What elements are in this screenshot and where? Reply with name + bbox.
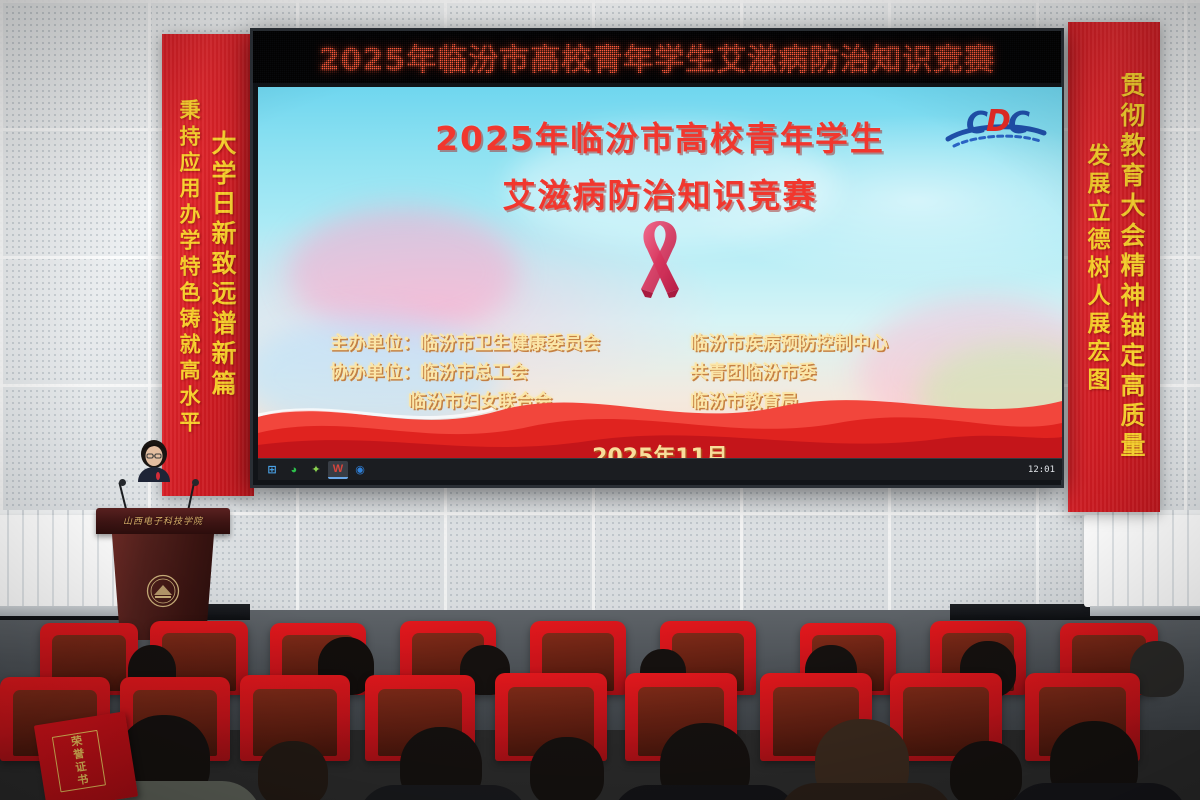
photos-icon[interactable]: ✦ — [306, 461, 326, 479]
slide-title-line2: 艾滋病防治知识竞赛 — [258, 169, 1062, 217]
speaker-at-podium: 山西电子科技学院 — [88, 430, 238, 640]
slide-title-line1: 2025年临汾市高校青年学生 — [258, 112, 1062, 160]
vertical-banner-left: 大学日新致远谱新篇 秉持应用办学特色铸就高水平 — [162, 34, 254, 496]
speaker-figure — [136, 440, 172, 482]
display-screen: 2025年临汾市高校青年学生艾滋病防治知识竞赛 C D C 2025年临汾市高校… — [250, 28, 1064, 488]
school-emblem-icon — [146, 574, 180, 608]
aids-awareness-ribbon-icon — [623, 215, 697, 306]
banner-left-main-text: 大学日新致远谱新篇 — [204, 48, 240, 482]
audience-shoulders — [1008, 783, 1188, 800]
audience-seating — [0, 615, 1200, 800]
audience-shoulders — [612, 785, 798, 800]
audience-shoulders — [778, 783, 954, 800]
media-player-icon[interactable]: ◉ — [350, 461, 370, 479]
presentation-slide: C D C 2025年临汾市高校青年学生 艾滋病防治知识竞赛 — [258, 87, 1062, 465]
audience-head — [530, 737, 604, 800]
audience-head — [258, 741, 328, 800]
led-banner: 2025年临汾市高校青年学生艾滋病防治知识竞赛 — [253, 31, 1061, 83]
podium-plaque-text: 山西电子科技学院 — [96, 514, 230, 527]
banner-right-sub-text: 发展立德树人展宏图 — [1079, 36, 1113, 498]
banner-right-main-text: 贯彻教育大会精神锚定高质量 — [1113, 36, 1149, 498]
conference-hall-photo: 大学日新致远谱新篇 秉持应用办学特色铸就高水平 贯彻教育大会精神锚定高质量 发展… — [0, 0, 1200, 800]
wechat-icon[interactable]: ◕ — [284, 461, 304, 479]
radiator-right — [1084, 515, 1200, 607]
vertical-banner-right: 贯彻教育大会精神锚定高质量 发展立德树人展宏图 — [1068, 22, 1160, 512]
wps-office-icon[interactable]: W — [328, 461, 348, 479]
certificate-text: 荣誉证书 — [67, 734, 91, 788]
honor-certificate: 荣誉证书 — [34, 711, 138, 800]
taskbar-clock[interactable]: 12:01 — [1028, 465, 1062, 475]
led-banner-text: 2025年临汾市高校青年学生艾滋病防治知识竞赛 — [319, 35, 996, 79]
taskbar-icon-group[interactable]: ⊞◕✦W◉ — [258, 461, 370, 479]
podium-top: 山西电子科技学院 — [96, 508, 230, 534]
banner-left-sub-text: 秉持应用办学特色铸就高水平 — [174, 48, 204, 482]
windows-taskbar[interactable]: ⊞◕✦W◉ 12:01 — [258, 458, 1062, 480]
audience-shoulders — [358, 785, 528, 800]
windows-start-icon[interactable]: ⊞ — [262, 461, 282, 479]
audience-head — [950, 741, 1022, 800]
